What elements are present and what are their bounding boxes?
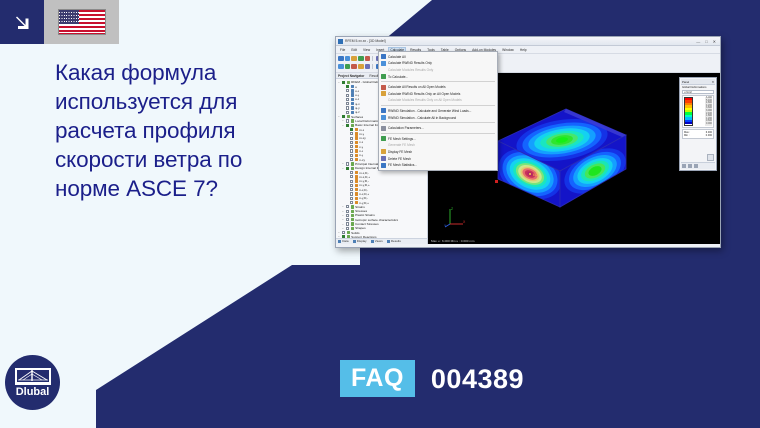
menu-item-edit[interactable]: Edit (350, 48, 358, 52)
delete-fe-icon (381, 156, 386, 161)
toolbar-button-icon[interactable] (351, 56, 357, 62)
arrow-down-right-icon (11, 11, 33, 33)
calc-all-icon (381, 54, 386, 59)
result-icon (355, 188, 358, 191)
tree-checkbox[interactable] (346, 222, 349, 225)
calc-open-icon (381, 85, 386, 90)
nav-bottom-tab-views[interactable]: Views (371, 239, 383, 243)
tree-checkbox[interactable] (346, 85, 349, 88)
nav-bottom-tab-results[interactable]: Results (387, 239, 401, 243)
menu-option-label: Calculate All Results on All Open Models (388, 85, 446, 89)
faq-slide: Какая формула используется для расчета п… (0, 0, 760, 428)
toolbar-button-icon[interactable] (338, 56, 344, 62)
tree-expander-icon[interactable] (346, 154, 349, 157)
menu-option-label: Calculate Modules Results Only (388, 68, 433, 72)
close-button[interactable]: ✕ (713, 39, 716, 44)
result-icon (355, 136, 358, 139)
to-calculate-icon (381, 74, 386, 79)
results-legend-panel[interactable]: Panel ✕ Global Deformations u [mm] 6.000… (679, 77, 717, 171)
result-icon (355, 201, 358, 204)
toolbar-button-icon[interactable] (351, 64, 357, 70)
tree-expander-icon[interactable]: − (342, 218, 345, 221)
menu-item-view[interactable]: View (362, 48, 371, 52)
legend-min-row: Min : 0.000 (684, 134, 712, 137)
menu-option-gen-fe: Generate FE Mesh (379, 142, 497, 149)
result-icon (351, 102, 354, 105)
folder-icon (351, 205, 354, 208)
legend-tab-color-icon[interactable] (682, 164, 686, 168)
faq-identifier: FAQ 004389 (340, 360, 524, 397)
dlubal-logo[interactable]: Dlubal (5, 355, 60, 410)
calc-rwind-open-icon (381, 91, 386, 96)
legend-scale-labels: 6.0005.4004.8004.2003.6003.0002.4001.800… (693, 97, 712, 126)
tree-expander-icon[interactable] (346, 128, 349, 131)
tree-expander-icon[interactable] (346, 184, 349, 187)
menu-option-calc-all[interactable]: Calculate All (379, 54, 497, 61)
tree-checkbox[interactable] (350, 192, 353, 195)
tree-expander-icon[interactable]: − (342, 162, 345, 165)
tree-checkbox[interactable] (346, 205, 349, 208)
menu-option-label: Calculate RWIND Results Only (388, 61, 432, 65)
tree-expander-icon[interactable] (342, 107, 345, 110)
tree-checkbox[interactable] (346, 94, 349, 97)
tree-expander-icon[interactable] (346, 188, 349, 191)
tree-checkbox[interactable] (346, 227, 349, 230)
menu-option-calc-open[interactable]: Calculate All Results on All Open Models (379, 84, 497, 91)
tree-expander-icon[interactable] (346, 141, 349, 144)
legend-min-value: 0.000 (706, 134, 712, 137)
viewport-status-text: Max u : 6.000 Min u : 0.000 mm (431, 239, 475, 243)
calc-rwind-icon (381, 61, 386, 66)
legend-panel-settings-button[interactable] (707, 154, 714, 161)
menu-option-label: To Calculate... (388, 75, 408, 79)
tree-checkbox[interactable] (346, 167, 349, 170)
question-line: скорости ветра по (55, 145, 305, 174)
navigator-tab-project[interactable]: Project Navigator (338, 74, 364, 78)
menu-option-calc-rwind[interactable]: Calculate RWIND Results Only (379, 60, 497, 67)
arrow-down-right-button[interactable] (0, 0, 44, 44)
folder-icon (351, 167, 354, 170)
tree-checkbox[interactable] (350, 175, 353, 178)
tree-checkbox[interactable] (350, 158, 353, 161)
tree-checkbox[interactable] (350, 180, 353, 183)
tree-expander-icon[interactable] (346, 180, 349, 183)
tree-checkbox[interactable] (350, 141, 353, 144)
tree-expander-icon[interactable]: − (342, 167, 345, 170)
result-icon (351, 85, 354, 88)
toolbar-button-icon[interactable] (358, 64, 364, 70)
tree-checkbox[interactable] (346, 106, 349, 109)
tree-checkbox[interactable] (350, 197, 353, 200)
toolbar-button-icon[interactable] (338, 64, 344, 70)
tree-checkbox[interactable] (350, 171, 353, 174)
question-line: норме ASCE 7? (55, 174, 305, 203)
us-flag-icon (58, 9, 106, 35)
app-icon (338, 39, 343, 44)
folder-icon (351, 214, 354, 217)
menu-option-calc-rwind-open[interactable]: Calculate RWIND Results Only on All Open… (379, 90, 497, 97)
menu-option-fe-stats[interactable]: FE Mesh Statistics... (379, 162, 497, 169)
tree-expander-icon[interactable] (342, 98, 345, 101)
menu-item-window[interactable]: Window (501, 48, 515, 52)
menu-option-label: RWIND Simulation - Calculate and Generat… (388, 109, 471, 113)
folder-icon (351, 162, 354, 165)
menu-option-to-calculate[interactable]: To Calculate... (379, 73, 497, 80)
navigator-bottom-tabs[interactable]: Data Display Views Results (336, 238, 427, 244)
rwind-bg-icon (381, 115, 386, 120)
tree-checkbox[interactable] (350, 128, 353, 131)
result-icon (351, 89, 354, 92)
toolbar-separator (372, 64, 373, 69)
fe-settings-icon (381, 136, 386, 141)
tree-checkbox[interactable] (350, 145, 353, 148)
result-icon (355, 192, 358, 195)
calculate-menu-dropdown[interactable]: Calculate AllCalculate RWIND Results Onl… (378, 51, 498, 171)
nav-bottom-label: Display (357, 239, 367, 243)
tree-expander-icon[interactable] (346, 193, 349, 196)
tree-expander-icon[interactable] (346, 150, 349, 153)
tree-expander-icon[interactable] (346, 197, 349, 200)
menu-option-calc-modules: Calculate Modules Results Only (379, 67, 497, 74)
result-icon (355, 179, 358, 182)
toolbar-button-icon[interactable] (365, 56, 371, 62)
folder-icon (351, 119, 354, 122)
result-icon (351, 93, 354, 96)
result-icon (355, 145, 358, 148)
tree-expander-icon[interactable]: − (342, 227, 345, 230)
tree-expander-icon[interactable]: − (338, 81, 341, 84)
legend-result-selector[interactable]: u [mm] (682, 90, 714, 94)
result-icon (355, 149, 358, 152)
question-line: используется для (55, 87, 305, 116)
result-icon (355, 197, 358, 200)
menu-option-label: Generate FE Mesh (388, 143, 415, 147)
menu-item-help[interactable]: Help (519, 48, 528, 52)
tree-expander-icon[interactable] (346, 158, 349, 161)
axis-triad-icon: Z X Y (444, 206, 466, 228)
menu-option-calc-params[interactable]: Calculation Parameters... (379, 125, 497, 132)
minimize-button[interactable]: — (696, 39, 700, 44)
window-title: RFEM 5.xx.xx - [3D Model] (345, 39, 696, 43)
legend-min-label: Min : (684, 134, 689, 137)
result-icon (351, 106, 354, 109)
menu-option-rwind-gen[interactable]: RWIND Simulation - Calculate and Generat… (379, 108, 497, 115)
tree-expander-icon[interactable] (346, 145, 349, 148)
gen-fe-icon (381, 143, 386, 148)
toolbar-button-icon[interactable] (345, 56, 351, 62)
fem-result-contours: 6.0 (474, 107, 649, 217)
legend-panel-title: Panel (682, 80, 689, 84)
folder-icon (351, 222, 354, 225)
menu-item-file[interactable]: File (339, 48, 346, 52)
display-fe-icon (381, 149, 386, 154)
legend-panel-close-icon[interactable]: ✕ (712, 80, 714, 84)
menu-option-fe-settings[interactable]: FE Mesh Settings... (379, 135, 497, 142)
toolbar-separator (372, 56, 373, 61)
tree-checkbox[interactable] (346, 98, 349, 101)
tree-checkbox[interactable] (346, 124, 349, 127)
folder-icon (347, 235, 350, 238)
result-icon (351, 111, 354, 114)
result-icon (355, 158, 358, 161)
tree-checkbox[interactable] (350, 184, 353, 187)
toolbar-button-icon[interactable] (358, 56, 364, 62)
tree-expander-icon[interactable]: − (342, 119, 345, 122)
tree-expander-icon[interactable] (346, 201, 349, 204)
tree-expander-icon[interactable] (346, 171, 349, 174)
tree-checkbox[interactable] (350, 201, 353, 204)
tree-checkbox[interactable] (346, 89, 349, 92)
maximize-button[interactable]: □ (705, 39, 707, 44)
tree-checkbox[interactable] (342, 81, 345, 84)
menu-separator (381, 81, 495, 82)
rwind-gen-icon (381, 108, 386, 113)
result-icon (355, 184, 358, 187)
tree-expander-icon[interactable] (342, 102, 345, 105)
svg-text:X: X (463, 220, 466, 224)
menu-option-label: RWIND Simulation - Calculate All in Back… (388, 116, 456, 120)
tree-checkbox[interactable] (350, 149, 353, 152)
toolbar-button-icon[interactable] (345, 64, 351, 70)
folder-icon (351, 227, 354, 230)
tree-checkbox[interactable] (350, 137, 353, 140)
tree-expander-icon[interactable] (346, 137, 349, 140)
faq-number: 004389 (431, 364, 524, 394)
question-line: расчета профиля (55, 116, 305, 145)
menu-option-label: Calculation Parameters... (388, 126, 424, 130)
dlubal-logo-text: Dlubal (16, 386, 50, 398)
menu-option-label: Delete FE Mesh (388, 157, 411, 161)
toolbar-button-icon[interactable] (365, 64, 371, 70)
calc-modules-icon (381, 67, 386, 72)
menu-option-rwind-bg[interactable]: RWIND Simulation - Calculate All in Back… (379, 114, 497, 121)
language-header-block (0, 0, 119, 44)
nav-bottom-tab-data[interactable]: Data (338, 239, 349, 243)
legend-tab-filter-icon[interactable] (694, 164, 698, 168)
calc-mod-open-icon (381, 98, 386, 103)
result-icon (355, 175, 358, 178)
menu-separator (381, 133, 495, 134)
tree-checkbox[interactable] (350, 132, 353, 135)
tree-expander-icon[interactable] (346, 175, 349, 178)
legend-minmax-box: Max : 6.000 Min : 0.000 (682, 129, 714, 140)
tree-expander-icon[interactable] (342, 85, 345, 88)
menu-option-delete-fe[interactable]: Delete FE Mesh (379, 155, 497, 162)
tree-checkbox[interactable] (342, 231, 345, 234)
menu-option-label: FE Mesh Statistics... (388, 163, 417, 167)
result-icon (355, 154, 358, 157)
result-icon (355, 171, 358, 174)
legend-tab-factors-icon[interactable] (688, 164, 692, 168)
tree-checkbox[interactable] (346, 119, 349, 122)
nav-bottom-label: Data (342, 239, 348, 243)
calc-params-icon (381, 126, 386, 131)
folder-icon (347, 81, 350, 84)
flag-container[interactable] (44, 0, 119, 44)
tree-expander-icon[interactable]: − (342, 124, 345, 127)
menu-option-label: Calculate Modules Results Only on All Op… (388, 98, 462, 102)
folder-icon (347, 115, 350, 118)
menu-separator (381, 122, 495, 123)
tree-item-label: Support Reactions (351, 235, 376, 238)
svg-text:Z: Z (451, 207, 453, 211)
tree-expander-icon[interactable] (342, 89, 345, 92)
tree-expander-icon[interactable]: − (338, 115, 341, 118)
tree-expander-icon[interactable] (346, 132, 349, 135)
svg-text:6.0: 6.0 (533, 173, 538, 177)
dlubal-truss-logo-icon (15, 368, 51, 385)
tree-checkbox[interactable] (346, 111, 349, 114)
legend-color-swatch (685, 122, 692, 124)
tree-expander-icon[interactable]: − (338, 235, 341, 237)
result-icon (355, 128, 358, 131)
tree-item[interactable]: −Support Reactions (338, 235, 427, 238)
folder-icon (351, 218, 354, 221)
window-controls[interactable]: — □ ✕ (696, 39, 716, 44)
menu-option-display-fe[interactable]: Display FE Mesh (379, 149, 497, 156)
tree-checkbox[interactable] (346, 210, 349, 213)
legend-color-bar (684, 97, 693, 126)
question-line: Какая формула (55, 58, 305, 87)
legend-panel-body (681, 140, 715, 162)
nav-bottom-tab-display[interactable]: Display (353, 239, 367, 243)
tree-checkbox[interactable] (346, 214, 349, 217)
faq-badge: FAQ (340, 360, 415, 397)
folder-icon (347, 231, 350, 234)
legend-color-scale: 6.0005.4004.8004.2003.6003.0002.4001.800… (682, 95, 714, 128)
tree-checkbox[interactable] (342, 235, 345, 237)
question-text: Какая формула используется для расчета п… (55, 58, 305, 203)
folder-icon (351, 124, 354, 127)
folder-icon (351, 210, 354, 213)
legend-scale-value: 0.000 (695, 123, 713, 126)
fe-stats-icon (381, 163, 386, 168)
tree-checkbox[interactable] (346, 162, 349, 165)
tree-checkbox[interactable] (350, 154, 353, 157)
window-titlebar[interactable]: RFEM 5.xx.xx - [3D Model] — □ ✕ (336, 37, 720, 46)
tree-expander-icon[interactable] (342, 111, 345, 114)
tree-expander-icon[interactable]: − (342, 205, 345, 208)
menu-option-label: Calculate RWIND Results Only on All Open… (388, 92, 460, 96)
result-icon (351, 98, 354, 101)
tree-checkbox[interactable] (346, 218, 349, 221)
tree-expander-icon[interactable] (342, 94, 345, 97)
legend-panel-tabs[interactable] (681, 162, 715, 169)
nav-bottom-label: Results (391, 239, 401, 243)
result-icon (355, 141, 358, 144)
menu-option-label: Calculate All (388, 55, 406, 59)
fem-shell-model[interactable]: 6.0 (474, 107, 649, 217)
nav-bottom-label: Views (375, 239, 383, 243)
tree-checkbox[interactable] (346, 102, 349, 105)
menu-option-label: Display FE Mesh (388, 150, 412, 154)
menu-option-label: FE Mesh Settings... (388, 137, 416, 141)
result-icon (355, 132, 358, 135)
menu-separator (381, 105, 495, 106)
menu-option-calc-mod-open: Calculate Modules Results Only on All Op… (379, 97, 497, 104)
tree-checkbox[interactable] (350, 188, 353, 191)
